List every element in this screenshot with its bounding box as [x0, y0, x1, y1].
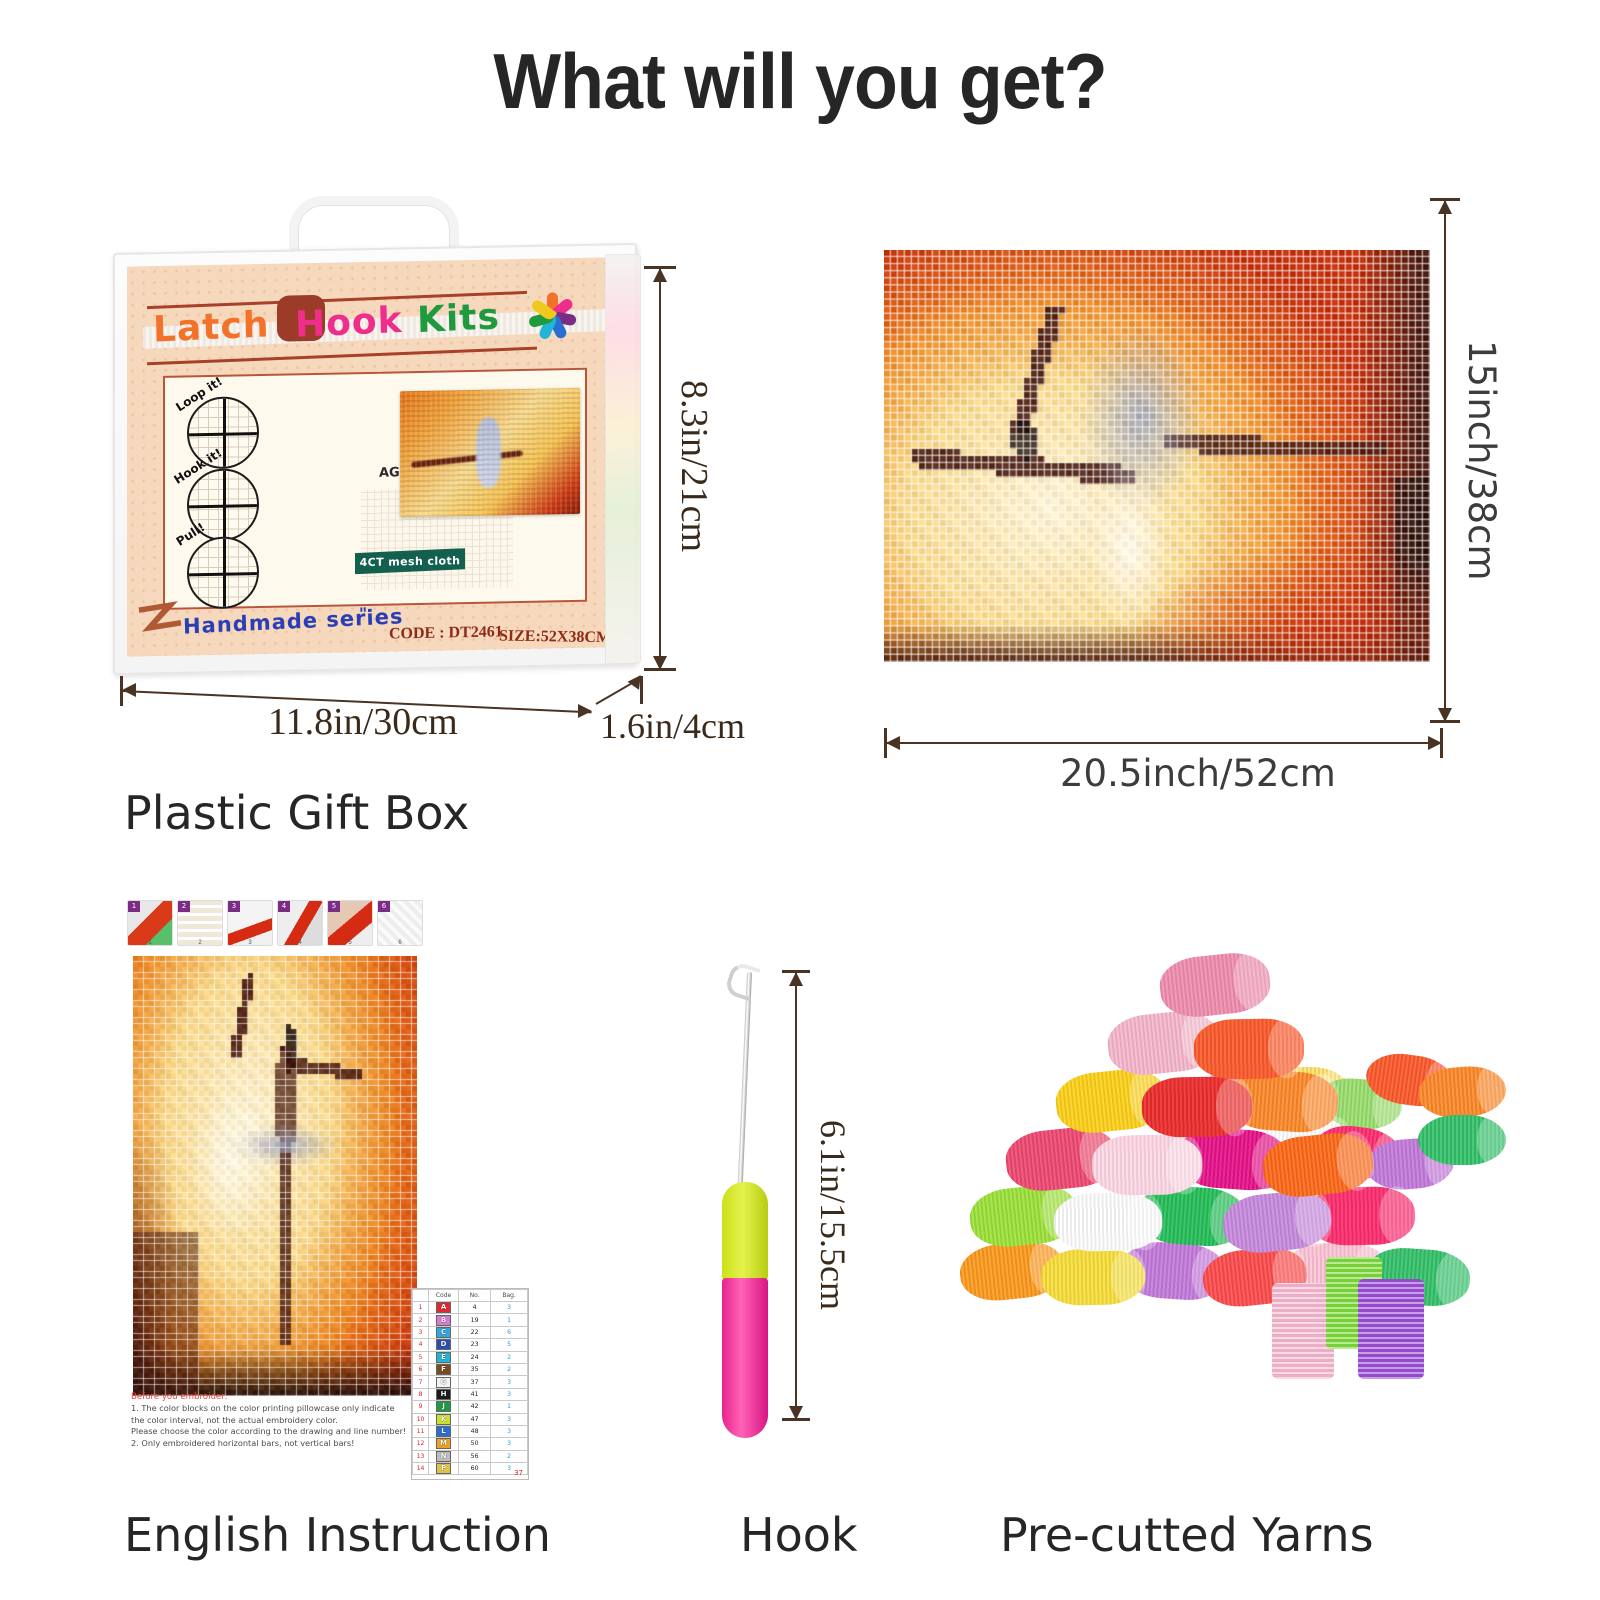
box-instruction-panel: Loop it! Hook it! Pull! AGE+6 ! 4CT mesh…	[163, 368, 587, 610]
legend-row: 5E242	[413, 1351, 528, 1363]
legend-number: 23	[458, 1339, 490, 1351]
step-thumbnail-number: 5	[328, 901, 340, 912]
mosaic-landscape	[884, 250, 1430, 662]
legend-index: 4	[413, 1339, 429, 1351]
legend-bag-count: 3	[491, 1388, 528, 1400]
legend-bag-count: 3	[491, 1376, 528, 1388]
legend-row: 10K473	[413, 1413, 528, 1425]
brand-word-latch: Latch	[152, 304, 269, 350]
infographic-page: What will you get? Latch Hook Kits	[0, 0, 1600, 1600]
rug-figure-body	[476, 417, 501, 488]
step-thumbnail-number: 1	[128, 901, 140, 912]
legend-code-letter: C	[436, 1327, 451, 1338]
legend-bag-count: 6	[491, 1326, 528, 1338]
legend-bag-count: 3	[491, 1413, 528, 1425]
before-you-embroider-notice: Before you embroider: 1. The color block…	[131, 1392, 421, 1449]
yarn-bundle	[1041, 1248, 1146, 1306]
yarn-bundle	[1157, 949, 1273, 1020]
legend-header-index	[413, 1290, 429, 1302]
legend-row: 6F352	[413, 1363, 528, 1375]
legend-index: 14	[413, 1463, 429, 1475]
step-thumbnail: 66	[377, 900, 423, 946]
legend-code-swatch: A	[429, 1302, 459, 1314]
brand-word-hook: Hook	[294, 300, 403, 346]
hook-barb-icon	[723, 961, 760, 1002]
notice-line-3: Please choose the color according to the…	[131, 1426, 421, 1438]
legend-code-letter: F	[436, 1364, 451, 1375]
legend-code-swatch: F	[429, 1363, 459, 1375]
legend-code-letter: D	[436, 1339, 451, 1350]
legend-code-letter: K	[436, 1414, 451, 1425]
caption-english-instruction: English Instruction	[124, 1508, 551, 1562]
step-thumbnail-caption: 5	[328, 940, 372, 946]
notice-line-2: the color interval, not the actual embro…	[131, 1415, 421, 1427]
step-thumbnail-caption: 2	[178, 940, 222, 946]
legend-code-swatch: E	[429, 1351, 459, 1363]
legend-row: 1A43	[413, 1302, 528, 1314]
canvas-height-line	[1444, 200, 1446, 722]
step-thumbnail-caption: 4	[278, 940, 322, 946]
legend-header-bag: Bag.	[491, 1290, 528, 1302]
english-instruction-sheet: 112233445566 Code No. Bag. 1A432B1913C22…	[127, 900, 423, 1480]
legend-number: 22	[458, 1326, 490, 1338]
legend-number: 41	[458, 1388, 490, 1400]
hook-length-label: 6.1in/15.5cm	[812, 1120, 854, 1310]
legend-bag-count: 3	[491, 1438, 528, 1450]
legend-row: 3C226	[413, 1326, 528, 1338]
rug-preview-thumbnail	[400, 388, 580, 517]
product-code: CODE : DT2461	[389, 623, 503, 643]
canvas-width-arrow-right	[1428, 736, 1442, 750]
legend-code-letter: H	[436, 1389, 451, 1400]
yarn-bundle	[1054, 1192, 1163, 1252]
finished-canvas-image	[884, 250, 1430, 662]
step-thumbnail: 44	[277, 900, 323, 946]
legend-code-swatch: P	[429, 1463, 459, 1475]
gift-box-image: Latch Hook Kits Loop it! Hook it! Pull!	[113, 196, 643, 666]
legend-code-swatch: N	[429, 1450, 459, 1462]
step-thumbnail-caption: 3	[228, 940, 272, 946]
legend-index: 7	[413, 1376, 429, 1388]
step-thumbnail: 22	[177, 900, 223, 946]
legend-row: 12M503	[413, 1438, 528, 1450]
box-width-arrow-left	[122, 683, 136, 697]
step-circle-pull	[187, 536, 259, 609]
legend-row: 13N562	[413, 1450, 528, 1462]
step-thumbnail: 55	[327, 900, 373, 946]
legend-code-swatch: L	[429, 1425, 459, 1437]
box-width-arrow-right	[578, 704, 592, 718]
legend-bag-count: 3	[491, 1302, 528, 1314]
series-label: Handmade series	[183, 604, 404, 638]
legend-index: 6	[413, 1363, 429, 1375]
legend-number: 24	[458, 1351, 490, 1363]
legend-number: 4	[458, 1302, 490, 1314]
legend-code-letter: L	[436, 1426, 451, 1437]
yarn-coil	[1358, 1279, 1424, 1379]
legend-number: 35	[458, 1363, 490, 1375]
hook-tool-image	[700, 960, 820, 1430]
box-height-arrow-down	[653, 656, 667, 670]
yarn-bundle	[1141, 1076, 1252, 1138]
legend-header-code: Code	[429, 1290, 459, 1302]
legend-table: Code No. Bag. 1A432B1913C2264D2355E2426F…	[412, 1289, 528, 1475]
legend-index: 3	[413, 1326, 429, 1338]
legend-header-no: No.	[458, 1290, 490, 1302]
printed-chart	[133, 956, 417, 1396]
legend-bag-count: 2	[491, 1351, 528, 1363]
caption-pre-cutted-yarns: Pre-cutted Yarns	[1000, 1508, 1374, 1562]
notice-heading: Before you embroider:	[131, 1392, 421, 1402]
legend-code-swatch: M	[429, 1438, 459, 1450]
legend-code-letter: M	[436, 1438, 451, 1449]
legend-row: 4D235	[413, 1339, 528, 1351]
legend-number: 50	[458, 1438, 490, 1450]
legend-code-letter: E	[436, 1352, 451, 1363]
canvas-width-line	[886, 742, 1442, 744]
legend-code-letter: G	[436, 1377, 451, 1388]
hook-length-line	[795, 972, 797, 1420]
yarn-bundle	[1091, 1134, 1202, 1196]
legend-code-swatch: K	[429, 1413, 459, 1425]
legend-code-swatch: C	[429, 1326, 459, 1338]
box-height-line	[659, 268, 661, 670]
legend-row: 9J421	[413, 1401, 528, 1413]
legend-code-swatch: J	[429, 1401, 459, 1413]
hook-length-arrow-up	[789, 972, 803, 986]
legend-bag-count: 1	[491, 1314, 528, 1326]
box-bottom-band: Handmade series " CODE : DT2461 SIZE:52X…	[127, 595, 605, 656]
legend-row: 2B191	[413, 1314, 528, 1326]
hook-needle	[737, 972, 752, 1202]
step-thumbnail-caption: 1	[128, 940, 172, 946]
legend-number: 47	[458, 1413, 490, 1425]
box-width-label: 11.8in/30cm	[268, 700, 458, 744]
canvas-height-arrow-down	[1438, 708, 1452, 722]
step-thumbnail-number: 6	[378, 901, 390, 912]
box-depth-label: 1.6in/4cm	[600, 705, 745, 747]
legend-code-letter: N	[436, 1451, 451, 1462]
legend-index: 1	[413, 1302, 429, 1314]
step-thumbnail: 33	[227, 900, 273, 946]
step-thumbnail-number: 4	[278, 901, 290, 912]
box-front-artwork: Latch Hook Kits Loop it! Hook it! Pull!	[127, 257, 605, 656]
step-thumbnail-number: 2	[178, 901, 190, 912]
pinwheel-logo-icon	[523, 288, 579, 345]
rug-figure-arm	[411, 450, 523, 468]
legend-number: 60	[458, 1463, 490, 1475]
brand-word-kits: Kits	[416, 296, 500, 341]
legend-number: 19	[458, 1314, 490, 1326]
box-height-label: 8.3in/21cm	[672, 380, 716, 552]
legend-code-letter: A	[436, 1302, 451, 1313]
legend-code-swatch: D	[429, 1339, 459, 1351]
legend-code-letter: J	[436, 1401, 451, 1412]
canvas-height-label: 15inch/38cm	[1460, 340, 1503, 581]
legend-code-letter: P	[436, 1463, 451, 1474]
caption-plastic-gift-box: Plastic Gift Box	[124, 786, 469, 840]
legend-code-swatch: B	[429, 1314, 459, 1326]
legend-index: 5	[413, 1351, 429, 1363]
legend-total: 37	[514, 1469, 523, 1477]
legend-row: 8H413	[413, 1388, 528, 1400]
notice-line-4: 2. Only embroidered horizontal bars, not…	[131, 1438, 421, 1450]
legend-code-letter: B	[436, 1315, 451, 1326]
legend-bag-count: 2	[491, 1363, 528, 1375]
hook-handle-lower	[722, 1278, 768, 1438]
product-size: SIZE:52X38CM	[499, 627, 605, 647]
legend-bag-count: 3	[491, 1425, 528, 1437]
series-mark: "	[359, 604, 369, 623]
legend-number: 42	[458, 1401, 490, 1413]
pre-cutted-yarns-image	[960, 935, 1470, 1445]
rule-bottom	[147, 347, 537, 366]
legend-row: 14P603	[413, 1463, 528, 1475]
color-legend-table: Code No. Bag. 1A432B1913C2264D2355E2426F…	[411, 1288, 529, 1480]
z-mark-icon	[138, 601, 183, 647]
hook-handle-upper	[722, 1182, 768, 1282]
legend-code-swatch: H	[429, 1388, 459, 1400]
step-thumbnail-row: 112233445566	[127, 900, 423, 950]
legend-number: 48	[458, 1425, 490, 1437]
legend-bag-count: 5	[491, 1339, 528, 1351]
step-thumbnail-number: 3	[228, 901, 240, 912]
canvas-height-arrow-up	[1438, 200, 1452, 214]
yarn-bundle	[1418, 1115, 1506, 1165]
hook-length-arrow-down	[789, 1406, 803, 1420]
canvas-width-label: 20.5inch/52cm	[1060, 752, 1336, 795]
step-thumbnail-caption: 6	[378, 940, 422, 946]
legend-row: 7G373	[413, 1376, 528, 1388]
legend-bag-count: 2	[491, 1450, 528, 1462]
yarn-coil	[1272, 1283, 1334, 1379]
legend-bag-count: 1	[491, 1401, 528, 1413]
legend-number: 37	[458, 1376, 490, 1388]
box-depth-arrow	[628, 671, 647, 690]
canvas-width-arrow-left	[886, 736, 900, 750]
box-side-panel	[605, 254, 641, 665]
legend-header-row: Code No. Bag.	[413, 1290, 528, 1302]
yarn-bundle	[1193, 1018, 1304, 1080]
box-height-arrow-up	[653, 268, 667, 282]
legend-number: 56	[458, 1450, 490, 1462]
legend-code-swatch: G	[429, 1376, 459, 1388]
step-thumbnail: 11	[127, 900, 173, 946]
notice-line-1: 1. The color blocks on the color printin…	[131, 1403, 421, 1415]
caption-hook: Hook	[740, 1508, 858, 1562]
legend-row: 11L483	[413, 1425, 528, 1437]
page-title: What will you get?	[64, 36, 1536, 127]
legend-index: 13	[413, 1450, 429, 1462]
legend-index: 2	[413, 1314, 429, 1326]
